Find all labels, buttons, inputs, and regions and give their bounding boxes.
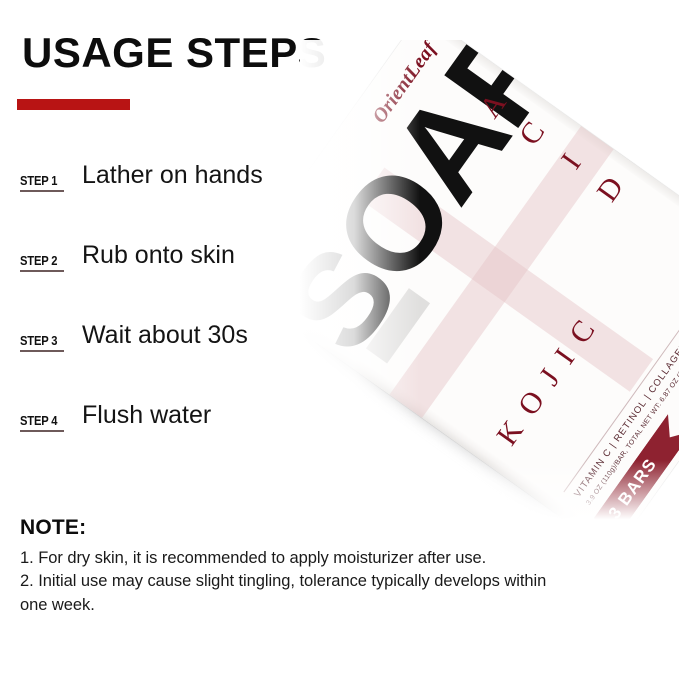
step-item: STEP 4 Flush water: [0, 405, 340, 485]
step-tag-rule: [20, 350, 64, 352]
note-heading: NOTE:: [20, 516, 640, 540]
step-item: STEP 2 Rub onto skin: [0, 245, 340, 325]
usage-steps-list: STEP 1 Lather on hands STEP 2 Rub onto s…: [0, 165, 340, 485]
step-tag-label: STEP 1: [20, 173, 61, 188]
step-tag-rule: [20, 270, 64, 272]
step-description: Rub onto skin: [82, 241, 235, 270]
step-tag: STEP 3: [20, 333, 68, 352]
product-photo: OrientLeaf SOAP KOJIC ACID VITAMIN C | R…: [300, 40, 679, 530]
title-accent-rule: [17, 99, 130, 110]
note-line-2: 2. Initial use may cause slight tingling…: [20, 570, 640, 593]
step-item: STEP 3 Wait about 30s: [0, 325, 340, 405]
step-tag-label: STEP 2: [20, 253, 61, 268]
product-box-face: OrientLeaf SOAP KOJIC ACID VITAMIN C | R…: [300, 40, 679, 530]
step-tag-label: STEP 3: [20, 333, 61, 348]
note-block: NOTE: 1. For dry skin, it is recommended…: [20, 516, 640, 617]
step-tag-label: STEP 4: [20, 413, 61, 428]
page-title: USAGE STEPS: [22, 32, 326, 74]
step-description: Lather on hands: [82, 161, 263, 190]
step-description: Flush water: [82, 401, 211, 430]
infographic-page: USAGE STEPS STEP 1 Lather on hands STEP …: [0, 0, 679, 679]
step-tag-rule: [20, 430, 64, 432]
step-description: Wait about 30s: [82, 321, 248, 350]
note-line-1: 1. For dry skin, it is recommended to ap…: [20, 547, 640, 570]
step-tag-rule: [20, 190, 64, 192]
note-line-3: one week.: [20, 594, 640, 617]
product-name-soap-text: SOAP: [300, 41, 547, 367]
step-tag: STEP 2: [20, 253, 68, 272]
step-item: STEP 1 Lather on hands: [0, 165, 340, 245]
product-box-rotated: OrientLeaf SOAP KOJIC ACID VITAMIN C | R…: [300, 40, 679, 530]
product-name-soap: SOAP: [300, 41, 547, 367]
step-tag: STEP 1: [20, 173, 68, 192]
step-tag: STEP 4: [20, 413, 68, 432]
